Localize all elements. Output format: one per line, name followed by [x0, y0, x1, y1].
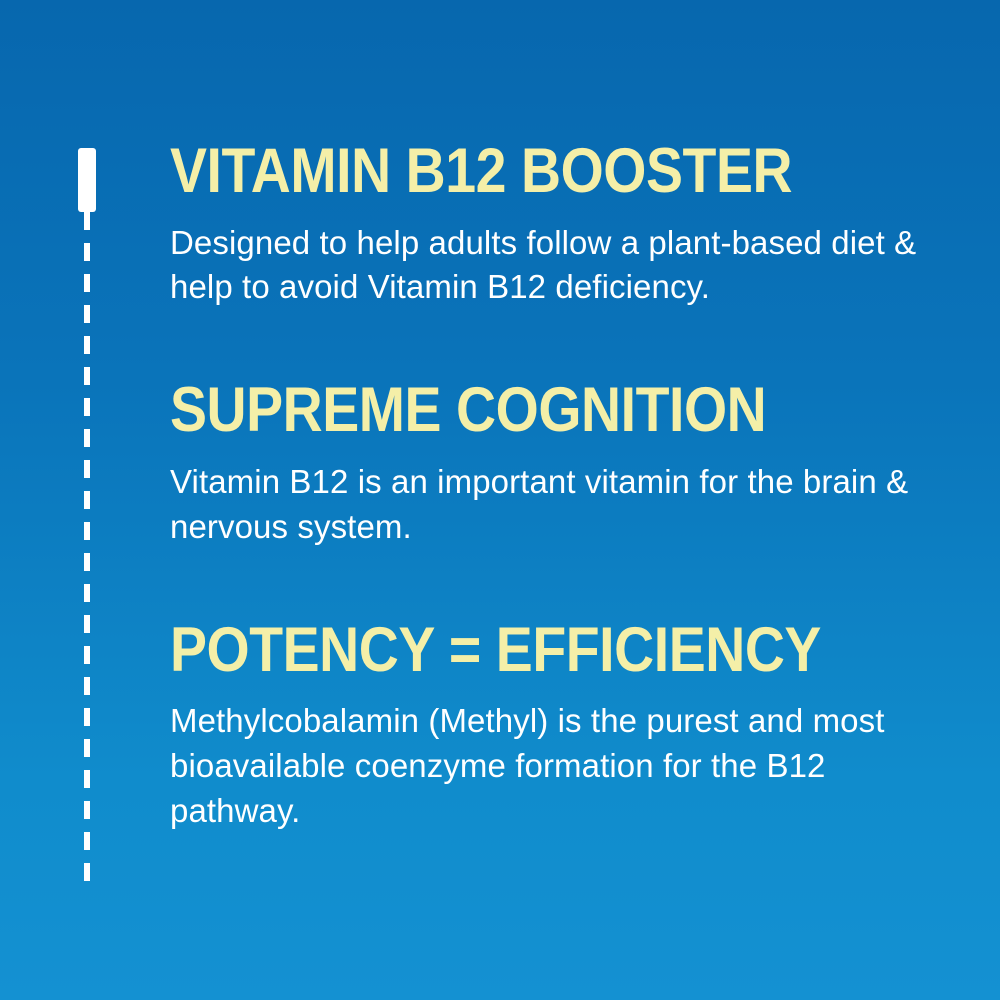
- benefit-block-3: POTENCY = EFFICIENCY Methylcobalamin (Me…: [170, 618, 940, 834]
- benefit-heading-2: SUPREME COGNITION: [170, 378, 848, 444]
- benefit-body-2: Vitamin B12 is an important vitamin for …: [170, 460, 925, 550]
- benefit-body-1: Designed to help adults follow a plant-b…: [170, 221, 925, 311]
- benefits-content: VITAMIN B12 BOOSTER Designed to help adu…: [170, 139, 940, 834]
- benefit-heading-3: POTENCY = EFFICIENCY: [170, 618, 848, 684]
- benefit-body-3: Methylcobalamin (Methyl) is the purest a…: [170, 699, 925, 834]
- benefit-block-1: VITAMIN B12 BOOSTER Designed to help adu…: [170, 139, 940, 310]
- timeline-dashed-line-icon: [84, 212, 90, 893]
- timeline-marker: [78, 148, 96, 893]
- benefit-heading-1: VITAMIN B12 BOOSTER: [170, 139, 848, 205]
- product-benefits-panel: VITAMIN B12 BOOSTER Designed to help adu…: [0, 0, 1000, 1000]
- timeline-pin-icon: [78, 148, 96, 212]
- benefit-block-2: SUPREME COGNITION Vitamin B12 is an impo…: [170, 378, 940, 549]
